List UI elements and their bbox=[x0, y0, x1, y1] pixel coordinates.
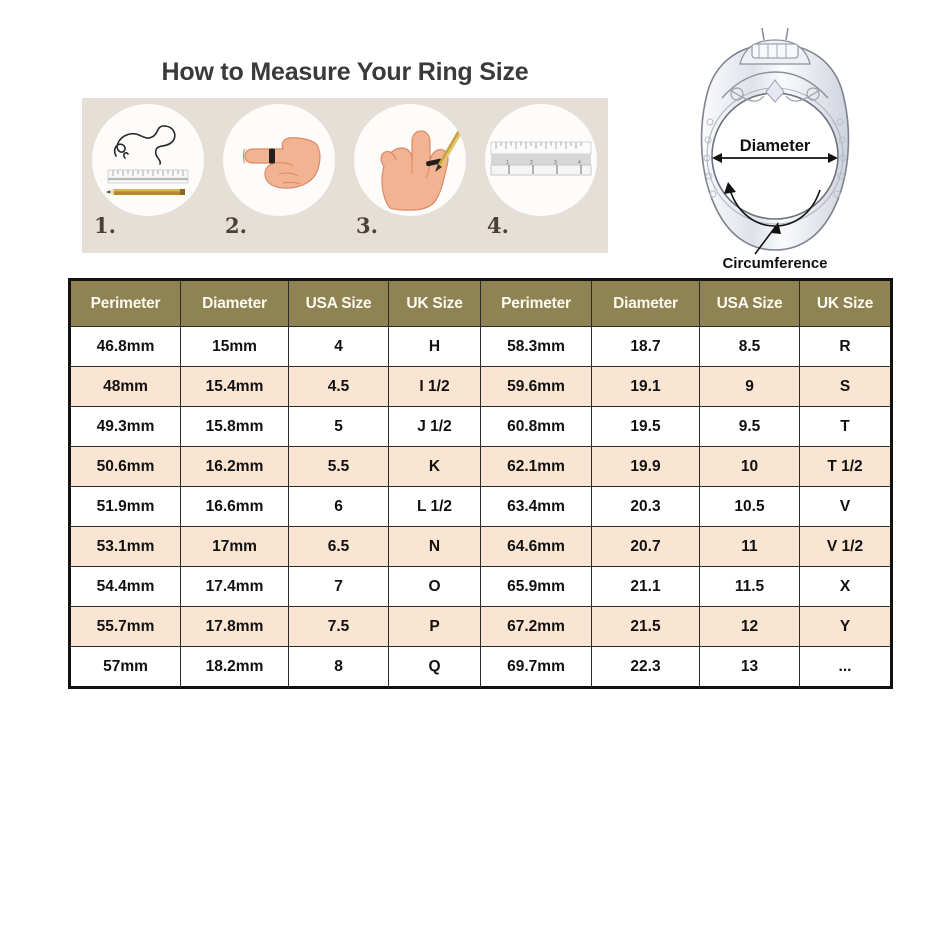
cell-perimeter: 55.7mm bbox=[70, 607, 181, 647]
cell-perimeter: 49.3mm bbox=[70, 407, 181, 447]
cell-usa-size-2: 9 bbox=[700, 367, 800, 407]
cell-diameter-2: 19.9 bbox=[592, 447, 700, 487]
column-header-perimeter-1: Perimeter bbox=[70, 280, 181, 327]
cell-diameter-2: 20.7 bbox=[592, 527, 700, 567]
cell-uk-size-2: ... bbox=[800, 647, 892, 688]
step-1: 1. bbox=[82, 98, 213, 253]
step-4: 12 34 4. bbox=[475, 98, 606, 253]
column-header-uk-size-2: UK Size bbox=[800, 280, 892, 327]
column-header-usa-size-2: USA Size bbox=[700, 280, 800, 327]
table-row: 54.4mm 17.4mm 7 O 65.9mm 21.1 11.5 X bbox=[70, 567, 892, 607]
cell-uk-size: L 1/2 bbox=[389, 487, 481, 527]
ruler-icon: 12 34 bbox=[491, 142, 591, 175]
cell-perimeter-2: 58.3mm bbox=[481, 327, 592, 367]
table-row: 55.7mm 17.8mm 7.5 P 67.2mm 21.5 12 Y bbox=[70, 607, 892, 647]
cell-usa-size-2: 8.5 bbox=[700, 327, 800, 367]
cell-usa-size: 5.5 bbox=[289, 447, 389, 487]
cell-usa-size-2: 10.5 bbox=[700, 487, 800, 527]
cell-perimeter-2: 65.9mm bbox=[481, 567, 592, 607]
cell-uk-size: I 1/2 bbox=[389, 367, 481, 407]
cell-uk-size-2: V 1/2 bbox=[800, 527, 892, 567]
cell-perimeter: 46.8mm bbox=[70, 327, 181, 367]
cell-uk-size-2: Y bbox=[800, 607, 892, 647]
svg-text:4: 4 bbox=[578, 160, 581, 166]
table-row: 50.6mm 16.2mm 5.5 K 62.1mm 19.9 10 T 1/2 bbox=[70, 447, 892, 487]
cell-perimeter-2: 63.4mm bbox=[481, 487, 592, 527]
cell-diameter-2: 19.5 bbox=[592, 407, 700, 447]
cell-usa-size: 4.5 bbox=[289, 367, 389, 407]
column-header-diameter-2: Diameter bbox=[592, 280, 700, 327]
table-header-row: Perimeter Diameter USA Size UK Size Peri… bbox=[70, 280, 892, 327]
cell-uk-size: J 1/2 bbox=[389, 407, 481, 447]
cell-perimeter-2: 59.6mm bbox=[481, 367, 592, 407]
cell-usa-size-2: 10 bbox=[700, 447, 800, 487]
column-header-usa-size-1: USA Size bbox=[289, 280, 389, 327]
circumference-label: Circumference bbox=[722, 255, 827, 272]
cell-usa-size: 6 bbox=[289, 487, 389, 527]
cell-usa-size: 5 bbox=[289, 407, 389, 447]
cell-perimeter-2: 67.2mm bbox=[481, 607, 592, 647]
table-row: 57mm 18.2mm 8 Q 69.7mm 22.3 13 ... bbox=[70, 647, 892, 688]
cell-diameter-2: 21.1 bbox=[592, 567, 700, 607]
string-squiggle-icon bbox=[114, 126, 174, 164]
cell-diameter-2: 19.1 bbox=[592, 367, 700, 407]
cell-perimeter: 50.6mm bbox=[70, 447, 181, 487]
page-title: How to Measure Your Ring Size bbox=[82, 58, 608, 87]
step-2-number: 2. bbox=[225, 213, 247, 238]
svg-text:2: 2 bbox=[530, 160, 533, 166]
ruler-icon bbox=[108, 170, 188, 183]
table-body: 46.8mm 15mm 4 H 58.3mm 18.7 8.5 R 48mm 1… bbox=[70, 327, 892, 688]
ring-diagram: Diameter Circumference bbox=[660, 22, 890, 272]
cell-diameter: 16.2mm bbox=[181, 447, 289, 487]
table-row: 53.1mm 17mm 6.5 N 64.6mm 20.7 11 V 1/2 bbox=[70, 527, 892, 567]
column-header-perimeter-2: Perimeter bbox=[481, 280, 592, 327]
steps-panel: 1. 2. bbox=[82, 98, 608, 253]
cell-uk-size-2: T bbox=[800, 407, 892, 447]
cell-usa-size: 6.5 bbox=[289, 527, 389, 567]
cell-usa-size: 8 bbox=[289, 647, 389, 688]
step-1-number: 1. bbox=[94, 213, 116, 238]
step-3-illustration bbox=[354, 104, 466, 216]
step-3-number: 3. bbox=[356, 213, 378, 238]
cell-diameter: 15.4mm bbox=[181, 367, 289, 407]
cell-diameter: 16.6mm bbox=[181, 487, 289, 527]
cell-perimeter-2: 69.7mm bbox=[481, 647, 592, 688]
cell-usa-size: 7.5 bbox=[289, 607, 389, 647]
cell-usa-size-2: 9.5 bbox=[700, 407, 800, 447]
svg-text:3: 3 bbox=[554, 160, 557, 166]
diameter-label: Diameter bbox=[740, 137, 811, 155]
step-4-illustration: 12 34 bbox=[485, 104, 597, 216]
cell-perimeter: 54.4mm bbox=[70, 567, 181, 607]
pointing-hand-icon bbox=[243, 138, 319, 188]
cell-diameter: 17mm bbox=[181, 527, 289, 567]
cell-diameter-2: 21.5 bbox=[592, 607, 700, 647]
cell-uk-size-2: V bbox=[800, 487, 892, 527]
cell-usa-size-2: 11.5 bbox=[700, 567, 800, 607]
cell-diameter-2: 20.3 bbox=[592, 487, 700, 527]
ring-size-table-container: Perimeter Diameter USA Size UK Size Peri… bbox=[68, 278, 883, 689]
cell-perimeter: 51.9mm bbox=[70, 487, 181, 527]
cell-uk-size-2: X bbox=[800, 567, 892, 607]
cell-usa-size: 4 bbox=[289, 327, 389, 367]
cell-diameter-2: 18.7 bbox=[592, 327, 700, 367]
howto-section: How to Measure Your Ring Size bbox=[0, 0, 950, 272]
cell-usa-size-2: 11 bbox=[700, 527, 800, 567]
cell-uk-size: P bbox=[389, 607, 481, 647]
cell-uk-size: N bbox=[389, 527, 481, 567]
cell-uk-size-2: T 1/2 bbox=[800, 447, 892, 487]
hand-marking-string-icon bbox=[381, 130, 462, 210]
cell-perimeter: 57mm bbox=[70, 647, 181, 688]
cell-diameter: 18.2mm bbox=[181, 647, 289, 688]
svg-text:1: 1 bbox=[506, 160, 509, 166]
cell-usa-size: 7 bbox=[289, 567, 389, 607]
step-4-number: 4. bbox=[487, 213, 509, 238]
column-header-diameter-1: Diameter bbox=[181, 280, 289, 327]
table-row: 48mm 15.4mm 4.5 I 1/2 59.6mm 19.1 9 S bbox=[70, 367, 892, 407]
cell-uk-size-2: S bbox=[800, 367, 892, 407]
ring-crown-icon bbox=[740, 28, 810, 64]
ring-size-table: Perimeter Diameter USA Size UK Size Peri… bbox=[68, 278, 893, 689]
cell-uk-size-2: R bbox=[800, 327, 892, 367]
cell-perimeter: 48mm bbox=[70, 367, 181, 407]
cell-usa-size-2: 13 bbox=[700, 647, 800, 688]
cell-perimeter: 53.1mm bbox=[70, 527, 181, 567]
step-3: 3. bbox=[344, 98, 475, 253]
cell-uk-size: Q bbox=[389, 647, 481, 688]
table-row: 51.9mm 16.6mm 6 L 1/2 63.4mm 20.3 10.5 V bbox=[70, 487, 892, 527]
cell-uk-size: O bbox=[389, 567, 481, 607]
cell-diameter: 15mm bbox=[181, 327, 289, 367]
cell-uk-size: K bbox=[389, 447, 481, 487]
step-1-illustration bbox=[92, 104, 204, 216]
cell-perimeter-2: 64.6mm bbox=[481, 527, 592, 567]
cell-diameter: 17.8mm bbox=[181, 607, 289, 647]
step-2: 2. bbox=[213, 98, 344, 253]
cell-usa-size-2: 12 bbox=[700, 607, 800, 647]
table-row: 49.3mm 15.8mm 5 J 1/2 60.8mm 19.5 9.5 T bbox=[70, 407, 892, 447]
cell-diameter: 15.8mm bbox=[181, 407, 289, 447]
cell-perimeter-2: 60.8mm bbox=[481, 407, 592, 447]
cell-diameter-2: 22.3 bbox=[592, 647, 700, 688]
cell-perimeter-2: 62.1mm bbox=[481, 447, 592, 487]
cell-diameter: 17.4mm bbox=[181, 567, 289, 607]
pencil-icon bbox=[106, 189, 185, 195]
cell-uk-size: H bbox=[389, 327, 481, 367]
table-row: 46.8mm 15mm 4 H 58.3mm 18.7 8.5 R bbox=[70, 327, 892, 367]
step-2-illustration bbox=[223, 104, 335, 216]
column-header-uk-size-1: UK Size bbox=[389, 280, 481, 327]
